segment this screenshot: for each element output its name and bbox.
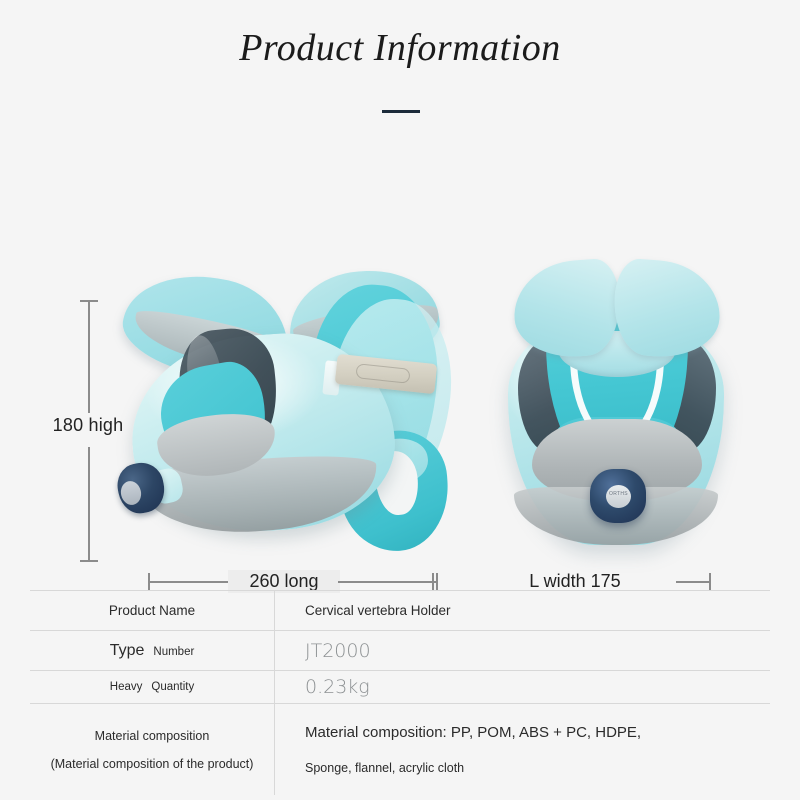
table-row: Heavy Quantity 0.23kg (30, 670, 770, 703)
spec-label-secondary-text: Number (153, 646, 194, 658)
spec-label-secondary-text: Quantity (151, 681, 194, 693)
spec-value-cell: 0.23kg (275, 671, 770, 703)
spec-value-text: JT2000 (305, 640, 770, 662)
cervical-collar-side-view (118, 263, 458, 568)
spec-value-text: 0.23kg (305, 676, 770, 698)
width-dimension-cap-left (432, 573, 434, 590)
spec-value-cell: Material composition: PP, POM, ABS + PC,… (275, 704, 770, 795)
spec-label-cell: Material composition (Material compositi… (30, 704, 275, 795)
spec-label-cell: Product Name (30, 591, 275, 630)
table-row: Type Number JT2000 (30, 630, 770, 670)
spec-label-text: Material composition (95, 729, 210, 743)
height-dimension-line-lower (88, 447, 90, 561)
spec-label-text: Product Name (109, 603, 195, 618)
title-underline-rule (382, 110, 420, 113)
spec-label-text: Type (110, 642, 145, 660)
spec-label-secondary-text: (Material composition of the product) (51, 757, 254, 771)
collar-knob-brand-text: ORTHS (606, 491, 631, 497)
product-spec-table: Product Name Cervical vertebra Holder Ty… (30, 590, 770, 795)
spec-value-cell: JT2000 (275, 631, 770, 670)
spec-label-cell: Heavy Quantity (30, 671, 275, 703)
page-title: Product Information (0, 26, 800, 70)
cervical-collar-front-view: ORTHS (492, 257, 740, 565)
page-header: Product Information (0, 0, 800, 125)
height-dimension-line-upper (88, 301, 90, 413)
spec-value-secondary-text: Sponge, flannel, acrylic cloth (305, 761, 770, 775)
collar-right-chin-wing (611, 257, 723, 360)
product-showcase: 180 high 260 long L width 175 (0, 125, 800, 485)
spec-label-cell: Type Number (30, 631, 275, 670)
height-dimension-cap-bottom (80, 560, 98, 562)
length-dimension-cap-right (436, 573, 438, 590)
length-dimension-line-left (150, 581, 228, 583)
spec-label-text: Heavy (110, 681, 143, 693)
table-row: Material composition (Material compositi… (30, 703, 770, 795)
spec-value-text: Cervical vertebra Holder (305, 603, 770, 618)
table-row: Product Name Cervical vertebra Holder (30, 590, 770, 630)
length-dimension-line-right (338, 581, 436, 583)
spec-value-text: Material composition: PP, POM, ABS + PC,… (305, 724, 770, 741)
width-dimension-line-right (676, 581, 710, 583)
spec-value-cell: Cervical vertebra Holder (275, 591, 770, 630)
width-dimension-cap-right (709, 573, 711, 590)
